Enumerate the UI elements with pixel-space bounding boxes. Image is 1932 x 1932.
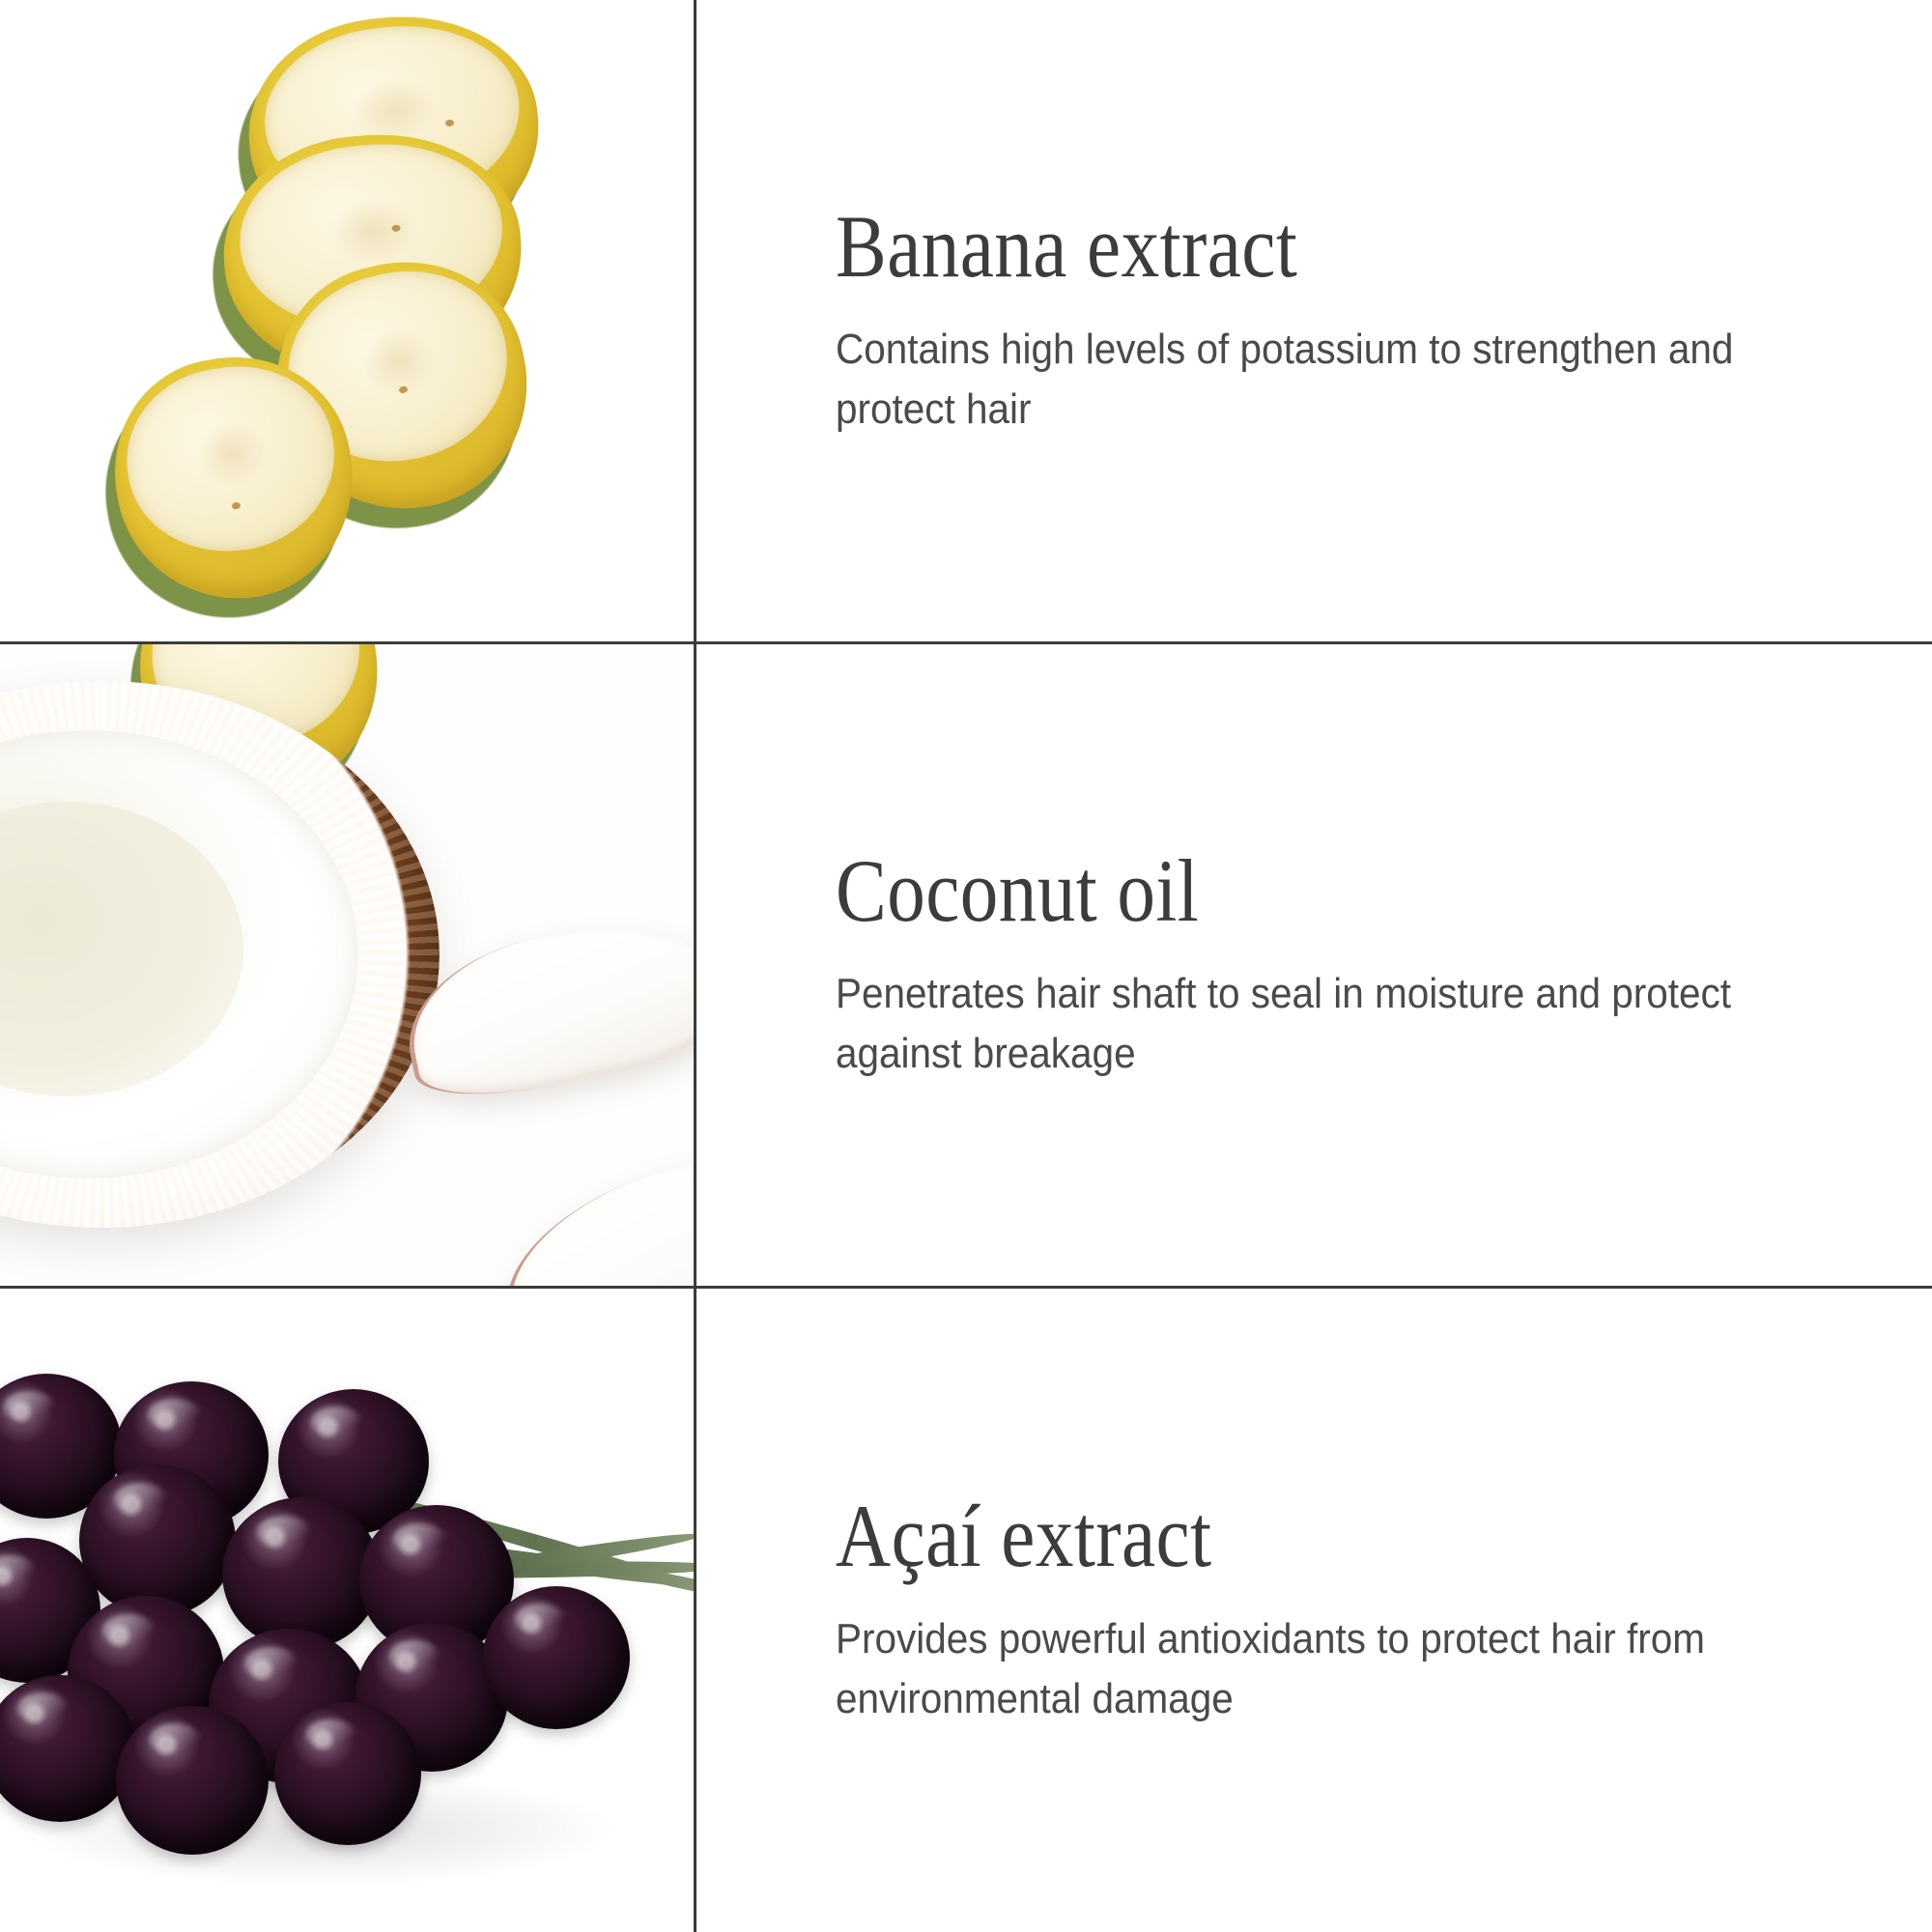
acai-text-cell: Açaí extract Provides powerful antioxida… xyxy=(696,1289,1932,1932)
acai-berry xyxy=(274,1702,421,1845)
acai-berry xyxy=(222,1497,381,1650)
coconut-description: Penetrates hair shaft to seal in moistur… xyxy=(836,964,1774,1085)
coconut-flake xyxy=(481,1125,694,1286)
coconut-photo xyxy=(0,644,694,1286)
banana-heading: Banana extract xyxy=(836,202,1712,291)
banana-text-cell: Banana extract Contains high levels of p… xyxy=(696,0,1932,641)
acai-photo xyxy=(0,1289,694,1932)
acai-berry xyxy=(79,1464,236,1617)
acai-berry xyxy=(116,1706,269,1855)
coconut-heading: Coconut oil xyxy=(836,846,1712,935)
acai-image-cell xyxy=(0,1289,694,1932)
banana-description: Contains high levels of potassium to str… xyxy=(836,320,1774,440)
acai-berry xyxy=(483,1586,630,1729)
ingredients-grid: Banana extract Contains high levels of p… xyxy=(0,0,1932,1932)
acai-heading: Açaí extract xyxy=(836,1492,1712,1580)
acai-description: Provides powerful antioxidants to protec… xyxy=(836,1609,1774,1730)
banana-photo xyxy=(0,0,694,641)
banana-slice xyxy=(97,339,372,618)
coconut-image-cell xyxy=(0,644,694,1286)
banana-image-cell xyxy=(0,0,694,641)
coconut-text-cell: Coconut oil Penetrates hair shaft to sea… xyxy=(696,644,1932,1286)
